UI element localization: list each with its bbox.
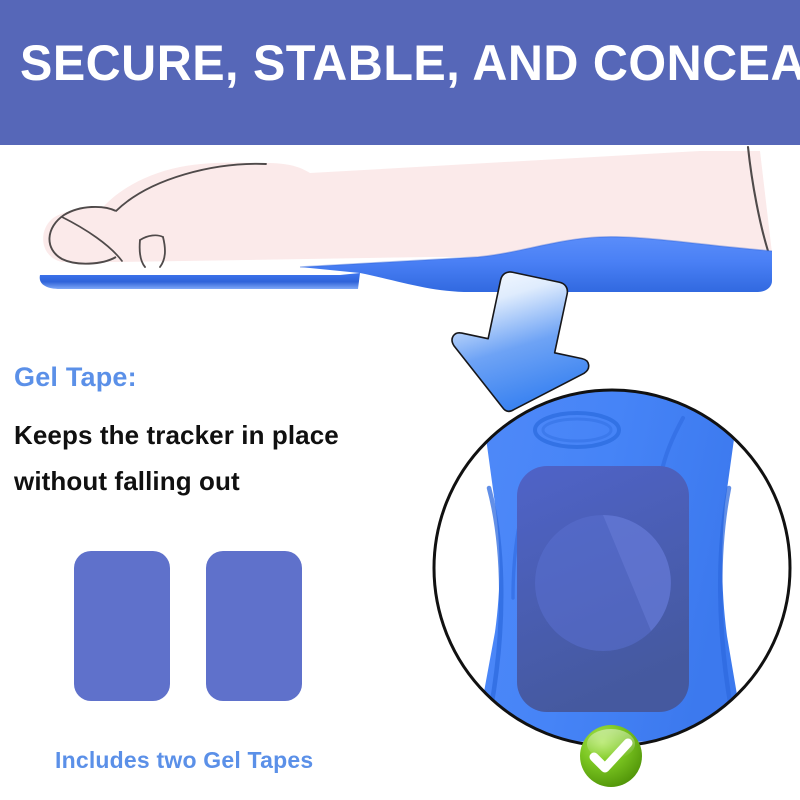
- infographic-canvas: SECURE, STABLE, AND CONCEALE: [0, 0, 800, 800]
- gel-tape-swatch-1: [74, 551, 170, 701]
- gel-tape-swatch-2: [206, 551, 302, 701]
- magnified-holder-graphic: [425, 378, 800, 773]
- gel-tape-description-line-2: without falling out: [14, 458, 434, 504]
- green-check-badge-graphic: [578, 723, 644, 789]
- sole-strip: [40, 273, 360, 289]
- inset-clipped-content: [475, 387, 745, 773]
- header-banner: SECURE, STABLE, AND CONCEALE: [0, 0, 800, 145]
- gel-tape-description: Keeps the tracker in place without falli…: [14, 412, 434, 504]
- includes-caption: Includes two Gel Tapes: [55, 747, 313, 774]
- gel-tape-description-line-1: Keeps the tracker in place: [14, 412, 434, 458]
- magnified-holder-inset: [425, 378, 800, 773]
- green-check-badge: [578, 723, 644, 789]
- foot-side-view-graphic: [0, 145, 800, 295]
- page-title: SECURE, STABLE, AND CONCEALE: [20, 34, 800, 92]
- foot-illustration: [0, 145, 800, 290]
- gel-tape-heading: Gel Tape:: [14, 362, 137, 393]
